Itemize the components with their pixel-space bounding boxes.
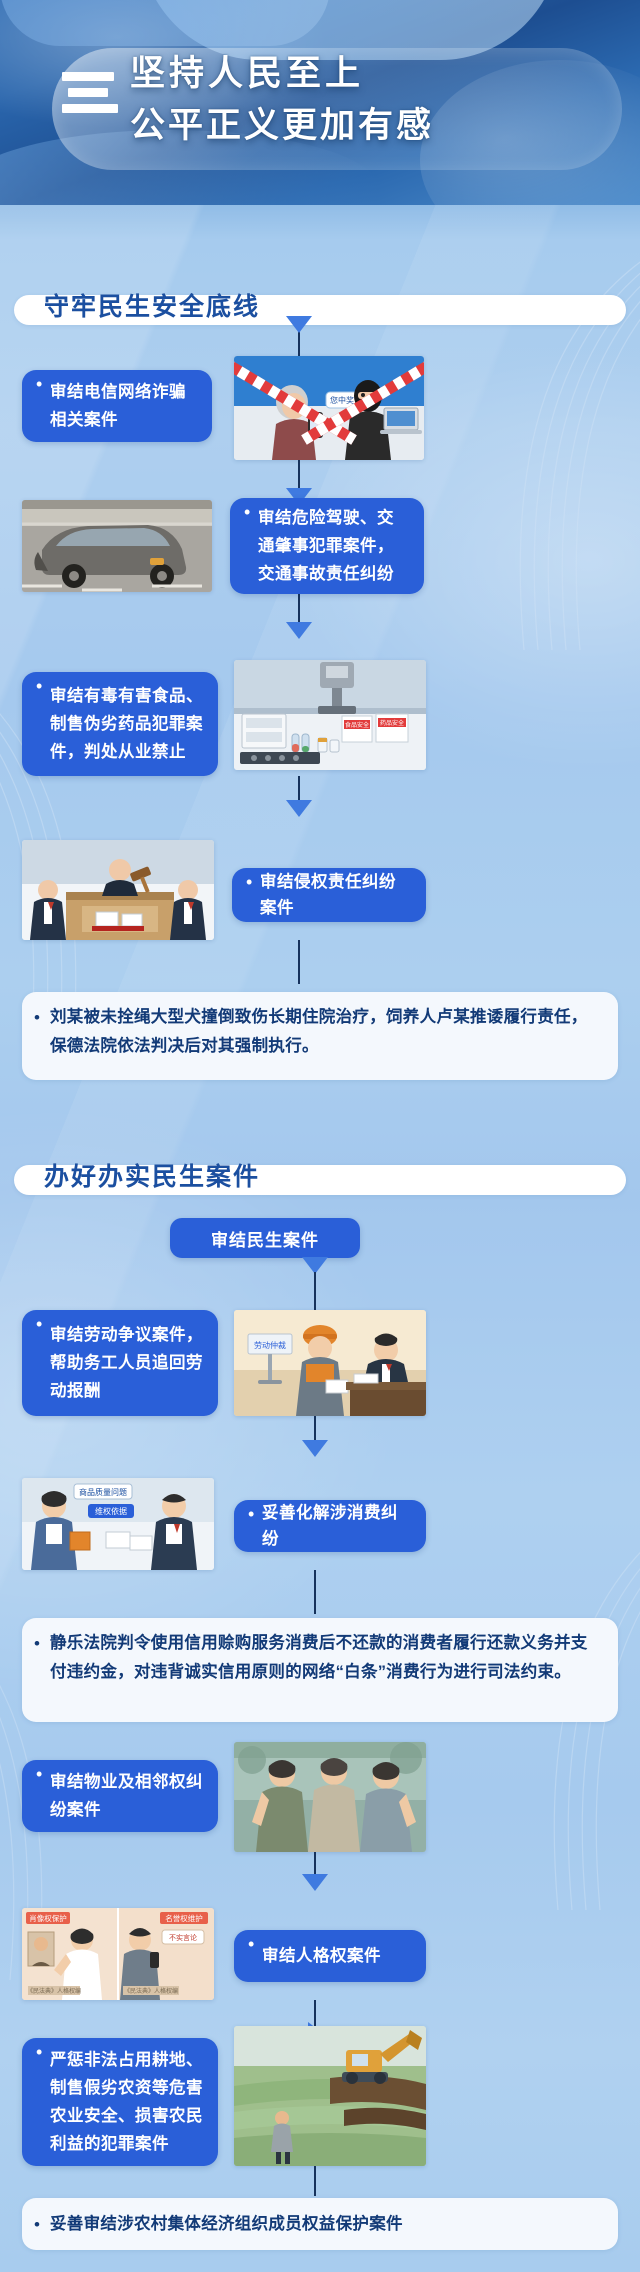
bullet-icon: • — [34, 2210, 50, 2239]
portrait-right-illustration: 肖像权保护 《民法典》人格权编 名誉权维护 不实言论 《民法典》人格权编 — [22, 1908, 214, 2000]
pill-civil-cases-label: 审结民生案件 — [211, 1226, 319, 1251]
three-bars-icon — [62, 60, 118, 124]
card-tort-liability-label: 审结侵权责任纠纷案件 — [260, 869, 426, 921]
case-rural-collective[interactable]: • 妥善审结涉农村集体经济组织成员权益保护案件 — [22, 2198, 618, 2250]
case-credit-purchase-text: 静乐法院判令使用信用赊购服务消费后不还款的消费者履行还款义务并支付违约金，对违背… — [50, 1629, 604, 1687]
page-title: 坚持人民至上 公平正义更加有感 — [130, 48, 610, 152]
connector-arrow-4 — [286, 800, 312, 817]
card-labor-dispute[interactable]: • 审结劳动争议案件，帮助务工人员追回劳动报酬 — [22, 1310, 218, 1416]
bullet-icon: • — [34, 1629, 50, 1658]
car-crash-photo — [22, 500, 212, 592]
bullet-icon: • — [36, 1310, 50, 1338]
bullet-icon: • — [246, 868, 260, 896]
svg-text:劳动仲裁: 劳动仲裁 — [254, 1340, 286, 1350]
card-property-dispute[interactable]: • 审结物业及相邻权纠纷案件 — [22, 1760, 218, 1832]
connector-line-11 — [314, 2166, 316, 2196]
svg-text:药品安全: 药品安全 — [380, 719, 404, 727]
hero-swoosh-top-left — [0, 0, 330, 46]
connector-arrow-9 — [302, 1874, 328, 1891]
courtroom-trial-illustration — [22, 840, 214, 940]
connector-line-5 — [298, 940, 300, 984]
bullet-icon: • — [248, 1500, 262, 1528]
farmland-excavator-illustration — [234, 2026, 426, 2166]
card-consumer-dispute-label: 妥善化解涉消费纠纷 — [262, 1500, 426, 1552]
pill-civil-cases[interactable]: 审结民生案件 — [170, 1218, 360, 1258]
card-food-drug[interactable]: • 审结有毒有害食品、制售伪劣药品犯罪案件，判处从业禁止 — [22, 672, 218, 776]
card-consumer-dispute[interactable]: • 妥善化解涉消费纠纷 — [234, 1500, 426, 1552]
section-header-2-label: 办好办实民生案件 — [44, 1157, 260, 1193]
card-labor-dispute-label: 审结劳动争议案件，帮助务工人员追回劳动报酬 — [50, 1321, 218, 1405]
labor-arbitration-illustration: 劳动仲裁 — [234, 1310, 426, 1416]
food-drug-lab-illustration: 食品安全 药品安全 — [234, 660, 426, 770]
svg-text:《民法典》人格权编: 《民法典》人格权编 — [27, 1987, 81, 1995]
svg-text:不实言论: 不实言论 — [169, 1933, 197, 1942]
case-dog-injury[interactable]: • 刘某被未拴绳大型犬撞倒致伤长期住院治疗，饲养人卢某推诿履行责任，保德法院依法… — [22, 992, 618, 1080]
card-tort-liability[interactable]: • 审结侵权责任纠纷案件 — [232, 868, 426, 922]
case-rural-collective-text: 妥善审结涉农村集体经济组织成员权益保护案件 — [50, 2210, 403, 2239]
card-dangerous-driving[interactable]: • 审结危险驾驶、交通肇事犯罪案件，交通事故责任纠纷 — [230, 498, 424, 594]
card-farmland-crime[interactable]: • 严惩非法占用耕地、制售假劣农资等危害农业安全、损害农民利益的犯罪案件 — [22, 2038, 218, 2166]
svg-text:维权依据: 维权依据 — [95, 1506, 127, 1516]
decorative-arcs-right-top — [500, 230, 640, 650]
card-telecom-fraud-label: 审结电信网络诈骗相关案件 — [50, 378, 212, 434]
bullet-icon: • — [36, 2038, 50, 2066]
page-title-line1: 坚持人民至上 — [130, 48, 610, 100]
neighbor-dispute-illustration — [234, 1742, 426, 1852]
fraud-warning-illustration: 您中奖了 — [234, 356, 424, 460]
infographic-page: 坚持人民至上 公平正义更加有感 守牢民生安全底线 • 审结电信网络诈骗相关案件 … — [0, 0, 640, 2272]
bullet-icon: • — [244, 498, 258, 526]
card-dangerous-driving-label: 审结危险驾驶、交通肇事犯罪案件，交通事故责任纠纷 — [258, 504, 424, 588]
section-header-2: 办好办实民生案件 — [14, 1165, 626, 1195]
connector-line-6 — [314, 1272, 316, 1310]
card-personality-right-label: 审结人格权案件 — [262, 1943, 395, 1969]
connector-arrow-7 — [302, 1440, 328, 1457]
card-property-dispute-label: 审结物业及相邻权纠纷案件 — [50, 1768, 218, 1824]
svg-text:商品质量问题: 商品质量问题 — [79, 1487, 127, 1497]
bullet-icon: • — [36, 1760, 50, 1788]
connector-line-8 — [314, 1570, 316, 1614]
card-food-drug-label: 审结有毒有害食品、制售伪劣药品犯罪案件，判处从业禁止 — [50, 682, 218, 766]
card-telecom-fraud[interactable]: • 审结电信网络诈骗相关案件 — [22, 370, 212, 442]
bullet-icon: • — [248, 1930, 262, 1958]
connector-arrow-1 — [286, 316, 312, 333]
bullet-icon: • — [36, 370, 50, 398]
card-farmland-crime-label: 严惩非法占用耕地、制售假劣农资等危害农业安全、损害农民利益的犯罪案件 — [50, 2046, 218, 2158]
section-header-1: 守牢民生安全底线 — [14, 295, 626, 325]
product-quality-illustration: 商品质量问题 维权依据 — [22, 1478, 214, 1570]
hero-banner: 坚持人民至上 公平正义更加有感 — [0, 0, 640, 205]
svg-text:《民法典》人格权编: 《民法典》人格权编 — [124, 1987, 178, 1995]
bullet-icon: • — [36, 672, 50, 700]
svg-text:食品安全: 食品安全 — [345, 721, 369, 729]
section-header-1-label: 守牢民生安全底线 — [44, 287, 260, 323]
card-personality-right[interactable]: • 审结人格权案件 — [234, 1930, 426, 1982]
svg-text:肖像权保护: 肖像权保护 — [29, 1913, 67, 1923]
case-credit-purchase[interactable]: • 静乐法院判令使用信用赊购服务消费后不还款的消费者履行还款义务并支付违约金，对… — [22, 1618, 618, 1722]
bullet-icon: • — [34, 1003, 50, 1032]
svg-text:名誉权维护: 名誉权维护 — [165, 1913, 203, 1923]
connector-arrow-3 — [286, 622, 312, 639]
page-title-line2: 公平正义更加有感 — [130, 100, 610, 152]
case-dog-injury-text: 刘某被未拴绳大型犬撞倒致伤长期住院治疗，饲养人卢某推诿履行责任，保德法院依法判决… — [50, 1003, 604, 1061]
